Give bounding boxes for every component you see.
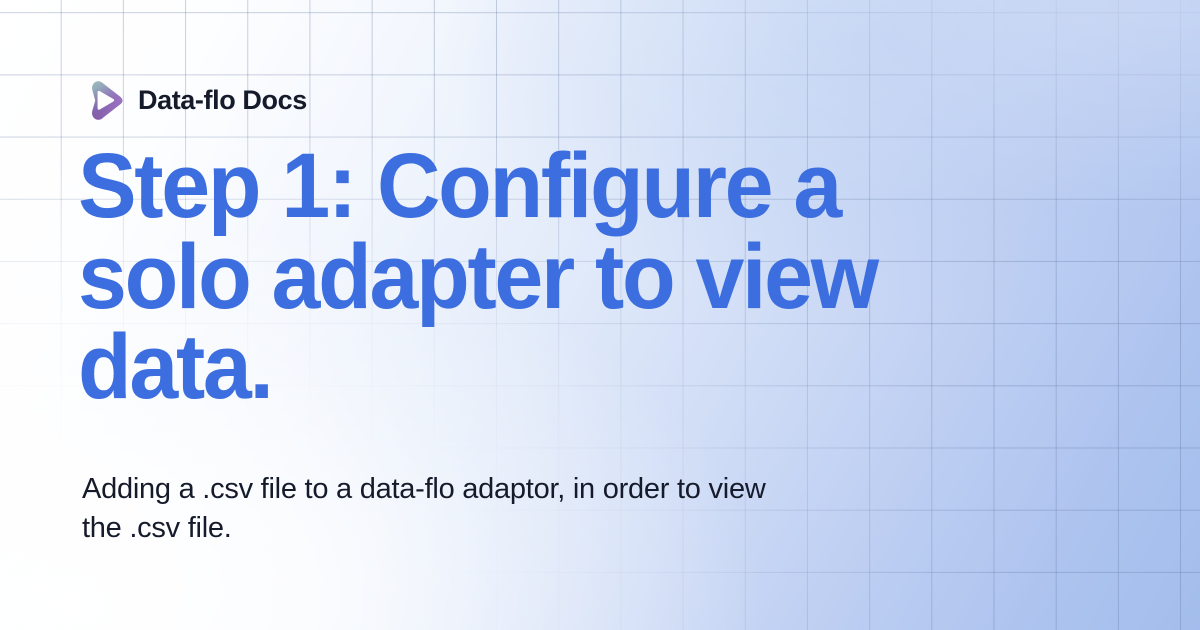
data-flo-logo-icon [82, 80, 124, 121]
page-title: Step 1: Configure a solo adapter to view… [78, 141, 995, 413]
page-subtitle: Adding a .csv file to a data-flo adaptor… [82, 470, 812, 549]
brand-name-label: Data-flo Docs [138, 87, 307, 114]
card-content: Data-flo Docs Step 1: Configure a solo a… [82, 0, 1092, 630]
brand-lockup: Data-flo Docs [82, 80, 307, 121]
og-card: Data-flo Docs Step 1: Configure a solo a… [0, 0, 1200, 630]
